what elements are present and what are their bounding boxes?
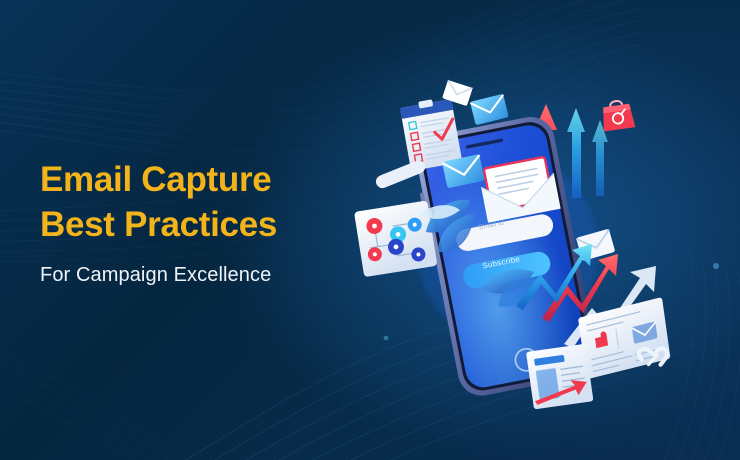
- banner-copy: Email Capture Best Practices For Campaig…: [40, 157, 380, 287]
- accent-dot: [384, 336, 389, 341]
- headline-line-1: Email Capture: [40, 160, 271, 199]
- page-title: Email Capture Best Practices: [40, 157, 380, 247]
- headline-line-2: Best Practices: [40, 205, 277, 244]
- email-marketing-illustration: Email Id Subscribe: [330, 70, 740, 400]
- shopping-bag-icon: [600, 99, 636, 132]
- accent-dot: [713, 263, 719, 269]
- email-capture-banner: Email Capture Best Practices For Campaig…: [0, 0, 740, 460]
- page-subtitle: For Campaign Excellence: [40, 264, 380, 287]
- envelope-icon: [470, 94, 509, 126]
- document-card-icon: [526, 344, 593, 410]
